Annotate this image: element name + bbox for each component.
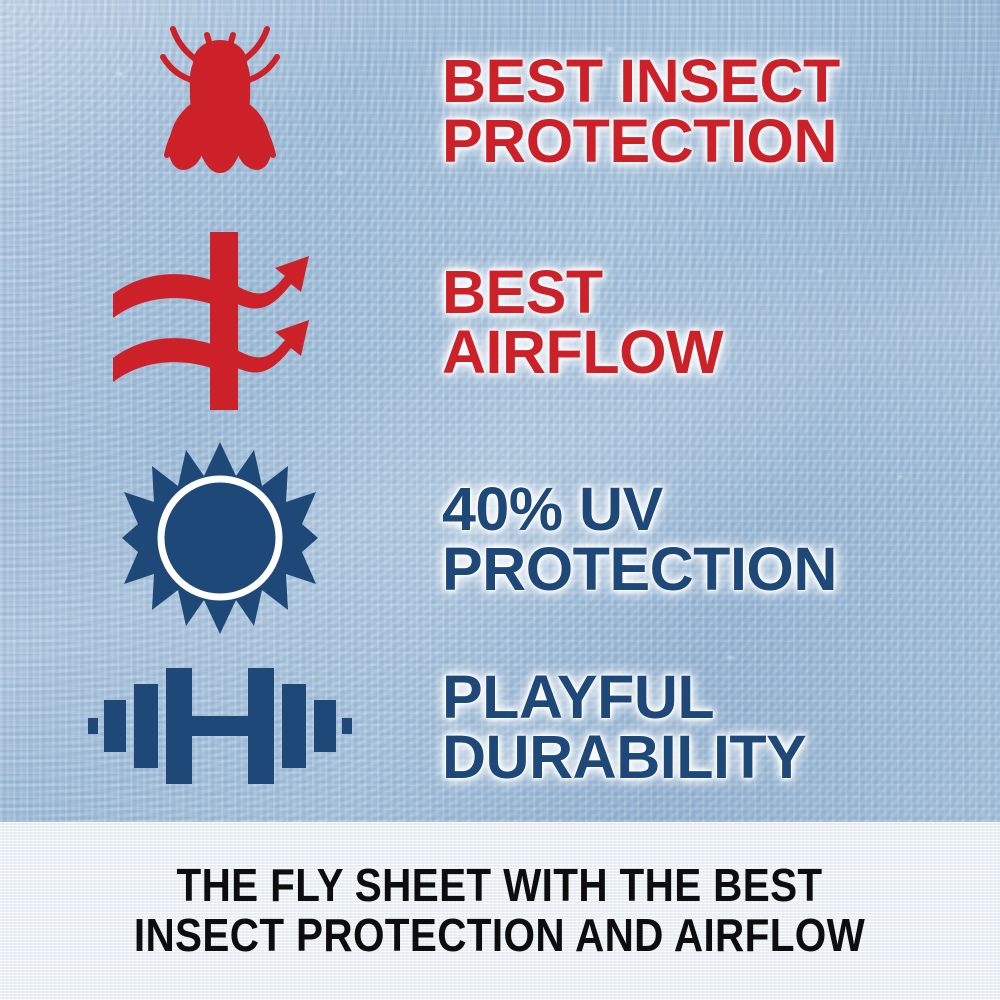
feature-text-cell: PLAYFUL DURABILITY bbox=[440, 668, 1000, 788]
feature-headline: 40% UV PROTECTION bbox=[442, 480, 1000, 600]
feature-row-airflow: BEST AIRFLOW bbox=[0, 228, 1000, 418]
feature-icon-cell bbox=[0, 15, 440, 210]
feature-icon-cell bbox=[0, 226, 440, 421]
feature-row-insect-protection: BEST INSECT PROTECTION bbox=[0, 14, 1000, 210]
feature-headline: BEST AIRFLOW bbox=[442, 263, 1000, 383]
airflow-through-barrier-icon bbox=[105, 226, 335, 421]
product-feature-infographic: BEST INSECT PROTECTION bbox=[0, 0, 1000, 1000]
feature-headline: PLAYFUL DURABILITY bbox=[442, 668, 1000, 788]
feature-text-cell: 40% UV PROTECTION bbox=[440, 480, 1000, 600]
caption-band: THE FLY SHEET WITH THE BEST INSECT PROTE… bbox=[0, 822, 1000, 1000]
feature-row-uv-protection: 40% UV PROTECTION bbox=[0, 440, 1000, 640]
fly-icon bbox=[145, 15, 295, 210]
feature-icon-cell bbox=[0, 440, 440, 641]
feature-text-cell: BEST AIRFLOW bbox=[440, 263, 1000, 383]
feature-row-durability: PLAYFUL DURABILITY bbox=[0, 648, 1000, 808]
feature-text-cell: BEST INSECT PROTECTION bbox=[440, 52, 1000, 172]
feature-icon-cell bbox=[0, 656, 440, 801]
caption-text: THE FLY SHEET WITH THE BEST INSECT PROTE… bbox=[134, 861, 865, 960]
sun-uv-icon bbox=[120, 440, 320, 641]
dumbbell-icon bbox=[86, 656, 354, 801]
feature-headline: BEST INSECT PROTECTION bbox=[442, 52, 1000, 172]
